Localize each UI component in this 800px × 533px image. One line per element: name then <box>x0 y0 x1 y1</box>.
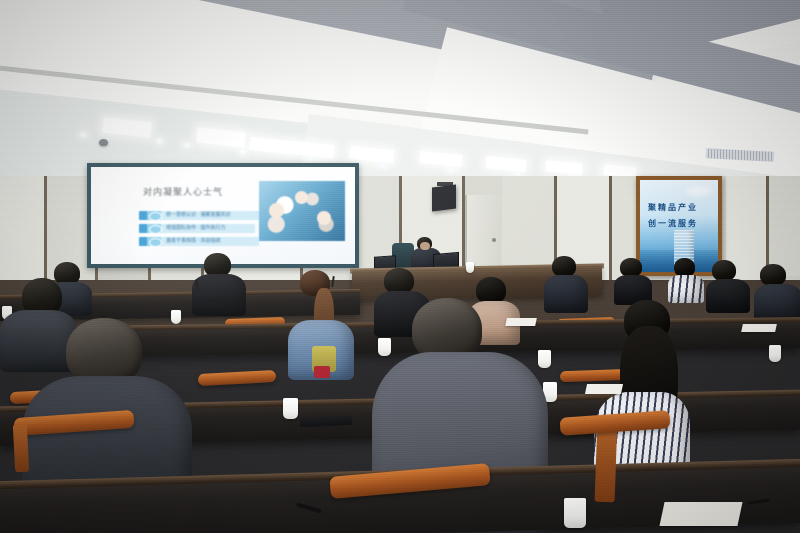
ceiling-camera-icon <box>99 139 108 146</box>
paper-cup[interactable] <box>564 498 586 528</box>
paper-cup[interactable] <box>283 398 298 419</box>
ceiling-downlight <box>378 162 386 167</box>
slide-bullet-marker <box>149 238 162 247</box>
ceiling-downlight <box>306 156 314 161</box>
slide-bullet-marker <box>149 212 162 221</box>
chair-arm[interactable] <box>13 424 29 473</box>
paper-cup[interactable] <box>769 345 781 362</box>
head <box>552 256 576 277</box>
poster-line-1: 聚精品产业 <box>648 202 712 213</box>
slide-bullet-text: 统一思想认识 · 凝聚发展共识 <box>166 211 230 218</box>
paper-document[interactable] <box>741 324 777 332</box>
ceiling-downlight <box>183 143 191 148</box>
projection-screen-frame: 对内凝聚人心士气 统一思想认识 · 凝聚发展共识 增强团队协作 · 提升执行力 … <box>87 163 359 268</box>
door-knob-icon[interactable] <box>492 238 496 242</box>
paper-cup[interactable] <box>171 310 181 324</box>
slide-photo <box>259 181 345 241</box>
torso <box>668 275 704 303</box>
slide-bullet-row: 统一思想认识 · 凝聚发展共识 <box>139 211 261 220</box>
ceiling-downlight <box>239 149 247 154</box>
slide-bullet-text: 激发干事热情 · 共创佳绩 <box>166 237 220 244</box>
poster-sky-glow <box>686 186 712 196</box>
slide-bullet-row: 增强团队协作 · 提升执行力 <box>139 224 255 233</box>
torso <box>192 274 246 316</box>
paper-cup[interactable] <box>378 338 391 356</box>
paper-cup[interactable] <box>466 262 474 273</box>
projection-screen: 对内凝聚人心士气 统一思想认识 · 凝聚发展共识 增强团队协作 · 提升执行力 … <box>91 167 355 264</box>
slide-title: 对内凝聚人心士气 <box>143 185 223 198</box>
paper-document[interactable] <box>505 318 537 326</box>
slide-bullet-row: 激发干事热情 · 共创佳绩 <box>139 237 259 246</box>
ceiling-downlight <box>447 167 455 172</box>
conference-room-photo: 对内凝聚人心士气 统一思想认识 · 凝聚发展共识 增强团队协作 · 提升执行力 … <box>0 0 800 533</box>
slide-bullet-marker <box>149 225 162 234</box>
paper-document[interactable] <box>585 384 623 394</box>
torso <box>706 279 750 313</box>
head <box>476 277 506 304</box>
red-badge <box>314 366 330 378</box>
presenter-face <box>420 242 430 250</box>
poster-line-2: 创一流服务 <box>648 218 712 229</box>
torso <box>544 275 588 313</box>
head <box>760 264 786 286</box>
wall-panel <box>0 176 47 292</box>
wall-speaker-icon <box>432 185 456 212</box>
ceiling-downlight <box>155 138 164 144</box>
ceiling-downlight <box>79 132 88 138</box>
wall-panel <box>769 176 800 276</box>
slide-bullet-text: 增强团队协作 · 提升执行力 <box>166 224 225 231</box>
paper-cup[interactable] <box>538 350 551 368</box>
paper-document[interactable] <box>659 502 742 526</box>
chair[interactable] <box>198 370 277 386</box>
head <box>712 260 736 281</box>
